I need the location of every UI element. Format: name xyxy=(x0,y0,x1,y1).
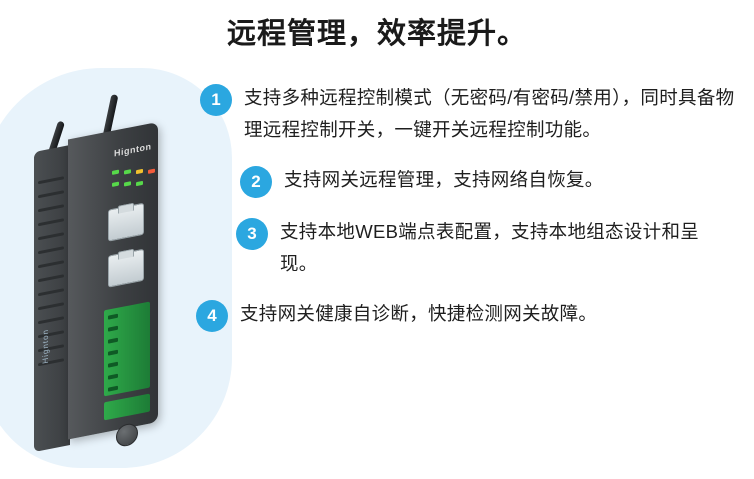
ethernet-port-1 xyxy=(108,203,144,242)
feature-text-2: 支持网关远程管理，支持网络自恢复。 xyxy=(284,164,604,196)
feature-badge-4: 4 xyxy=(196,300,228,332)
promo-page: 远程管理，效率提升。 xyxy=(0,0,754,479)
device-brand-label: Hignton xyxy=(114,141,152,158)
feature-list: 1 支持多种远程控制模式（无密码/有密码/禁用），同时具备物理远程控制开关，一键… xyxy=(196,82,746,350)
feature-badge-3: 3 xyxy=(236,218,268,250)
device-front-face: Hignton xyxy=(68,122,158,439)
feature-item-1: 1 支持多种远程控制模式（无密码/有密码/禁用），同时具备物理远程控制开关，一键… xyxy=(200,82,746,146)
feature-text-1: 支持多种远程控制模式（无密码/有密码/禁用），同时具备物理远程控制开关，一键开关… xyxy=(244,82,744,146)
feature-text-3: 支持本地WEB端点表配置，支持本地组态设计和呈现。 xyxy=(280,216,700,280)
feature-item-2: 2 支持网关远程管理，支持网络自恢复。 xyxy=(240,164,746,198)
ethernet-port-2 xyxy=(108,249,144,288)
feature-badge-2: 2 xyxy=(240,166,272,198)
terminal-block-main xyxy=(104,302,150,397)
terminal-block-power xyxy=(104,394,150,421)
feature-item-3: 3 支持本地WEB端点表配置，支持本地组态设计和呈现。 xyxy=(236,216,746,280)
feature-item-4: 4 支持网关健康自诊断，快捷检测网关故障。 xyxy=(196,298,746,332)
device-side-panel: Hignton xyxy=(34,145,70,452)
feature-text-4: 支持网关健康自诊断，快捷检测网关故障。 xyxy=(240,298,597,330)
feature-badge-1: 1 xyxy=(200,84,232,116)
gateway-device: Hignton Hignton xyxy=(34,128,158,452)
page-title: 远程管理，效率提升。 xyxy=(0,10,754,52)
device-side-brand: Hignton xyxy=(41,328,50,364)
